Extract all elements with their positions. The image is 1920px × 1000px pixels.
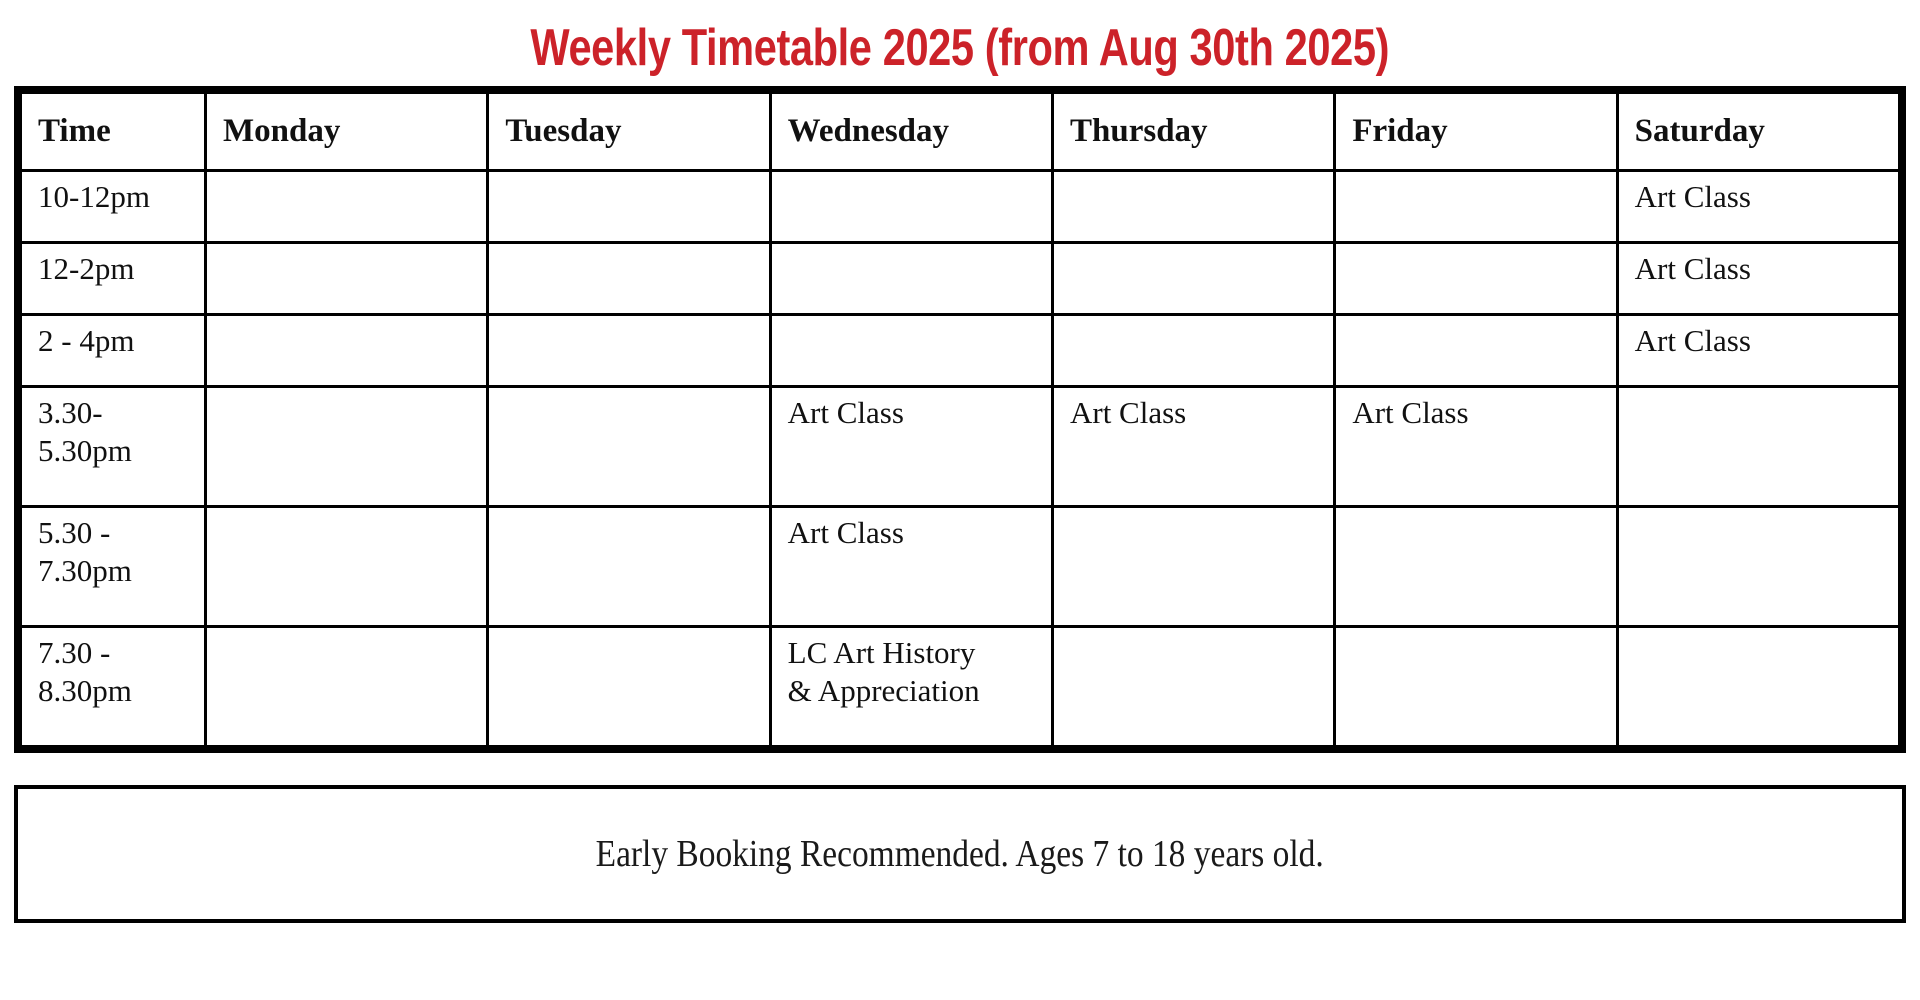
column-header-tuesday: Tuesday bbox=[488, 93, 770, 171]
empty-slot-saturday bbox=[1617, 387, 1899, 507]
empty-slot-monday bbox=[206, 171, 488, 243]
column-header-time: Time bbox=[21, 93, 206, 171]
table-row: 2 - 4pmArt Class bbox=[21, 315, 1900, 387]
empty-slot-monday bbox=[206, 627, 488, 747]
empty-slot-thursday bbox=[1052, 315, 1334, 387]
time-slot-label: 5.30 - 7.30pm bbox=[21, 507, 206, 627]
time-slot-label: 3.30- 5.30pm bbox=[21, 387, 206, 507]
class-slot-saturday[interactable]: Art Class bbox=[1617, 243, 1899, 315]
time-slot-label: 10-12pm bbox=[21, 171, 206, 243]
empty-slot-tuesday bbox=[488, 387, 770, 507]
class-slot-saturday[interactable]: Art Class bbox=[1617, 315, 1899, 387]
empty-slot-tuesday bbox=[488, 243, 770, 315]
table-row: 10-12pmArt Class bbox=[21, 171, 1900, 243]
empty-slot-tuesday bbox=[488, 627, 770, 747]
weekly-timetable: Time Monday Tuesday Wednesday Thursday F… bbox=[19, 91, 1901, 748]
table-row: 5.30 - 7.30pmArt Class bbox=[21, 507, 1900, 627]
timetable-header: Time Monday Tuesday Wednesday Thursday F… bbox=[21, 93, 1900, 171]
empty-slot-wednesday bbox=[770, 315, 1052, 387]
empty-slot-wednesday bbox=[770, 171, 1052, 243]
empty-slot-thursday bbox=[1052, 243, 1334, 315]
page-title-container: Weekly Timetable 2025 (from Aug 30th 202… bbox=[0, 0, 1920, 86]
class-slot-wednesday[interactable]: Art Class bbox=[770, 387, 1052, 507]
empty-slot-friday bbox=[1335, 243, 1617, 315]
column-header-wednesday: Wednesday bbox=[770, 93, 1052, 171]
column-header-thursday: Thursday bbox=[1052, 93, 1334, 171]
empty-slot-thursday bbox=[1052, 507, 1334, 627]
empty-slot-thursday bbox=[1052, 171, 1334, 243]
column-header-friday: Friday bbox=[1335, 93, 1617, 171]
page-title: Weekly Timetable 2025 (from Aug 30th 202… bbox=[531, 16, 1390, 80]
timetable-page: Weekly Timetable 2025 (from Aug 30th 202… bbox=[0, 0, 1920, 1000]
time-slot-label: 7.30 - 8.30pm bbox=[21, 627, 206, 747]
empty-slot-monday bbox=[206, 507, 488, 627]
empty-slot-tuesday bbox=[488, 507, 770, 627]
empty-slot-tuesday bbox=[488, 171, 770, 243]
class-slot-friday[interactable]: Art Class bbox=[1335, 387, 1617, 507]
timetable-body: 10-12pmArt Class12-2pmArt Class2 - 4pmAr… bbox=[21, 171, 1900, 747]
table-row: 3.30- 5.30pmArt ClassArt ClassArt Class bbox=[21, 387, 1900, 507]
empty-slot-monday bbox=[206, 315, 488, 387]
time-slot-label: 2 - 4pm bbox=[21, 315, 206, 387]
footer-note-box: Early Booking Recommended. Ages 7 to 18 … bbox=[14, 785, 1906, 923]
table-row: 12-2pmArt Class bbox=[21, 243, 1900, 315]
timetable-container: Time Monday Tuesday Wednesday Thursday F… bbox=[14, 86, 1906, 753]
empty-slot-friday bbox=[1335, 171, 1617, 243]
class-slot-wednesday[interactable]: LC Art History & Appreciation bbox=[770, 627, 1052, 747]
column-header-monday: Monday bbox=[206, 93, 488, 171]
empty-slot-saturday bbox=[1617, 627, 1899, 747]
empty-slot-monday bbox=[206, 387, 488, 507]
empty-slot-friday bbox=[1335, 315, 1617, 387]
class-slot-thursday[interactable]: Art Class bbox=[1052, 387, 1334, 507]
class-slot-saturday[interactable]: Art Class bbox=[1617, 171, 1899, 243]
empty-slot-friday bbox=[1335, 507, 1617, 627]
header-row: Time Monday Tuesday Wednesday Thursday F… bbox=[21, 93, 1900, 171]
empty-slot-saturday bbox=[1617, 507, 1899, 627]
empty-slot-monday bbox=[206, 243, 488, 315]
empty-slot-wednesday bbox=[770, 243, 1052, 315]
empty-slot-friday bbox=[1335, 627, 1617, 747]
empty-slot-tuesday bbox=[488, 315, 770, 387]
time-slot-label: 12-2pm bbox=[21, 243, 206, 315]
class-slot-wednesday[interactable]: Art Class bbox=[770, 507, 1052, 627]
empty-slot-thursday bbox=[1052, 627, 1334, 747]
footer-note-text: Early Booking Recommended. Ages 7 to 18 … bbox=[596, 832, 1324, 876]
table-row: 7.30 - 8.30pmLC Art History & Appreciati… bbox=[21, 627, 1900, 747]
column-header-saturday: Saturday bbox=[1617, 93, 1899, 171]
